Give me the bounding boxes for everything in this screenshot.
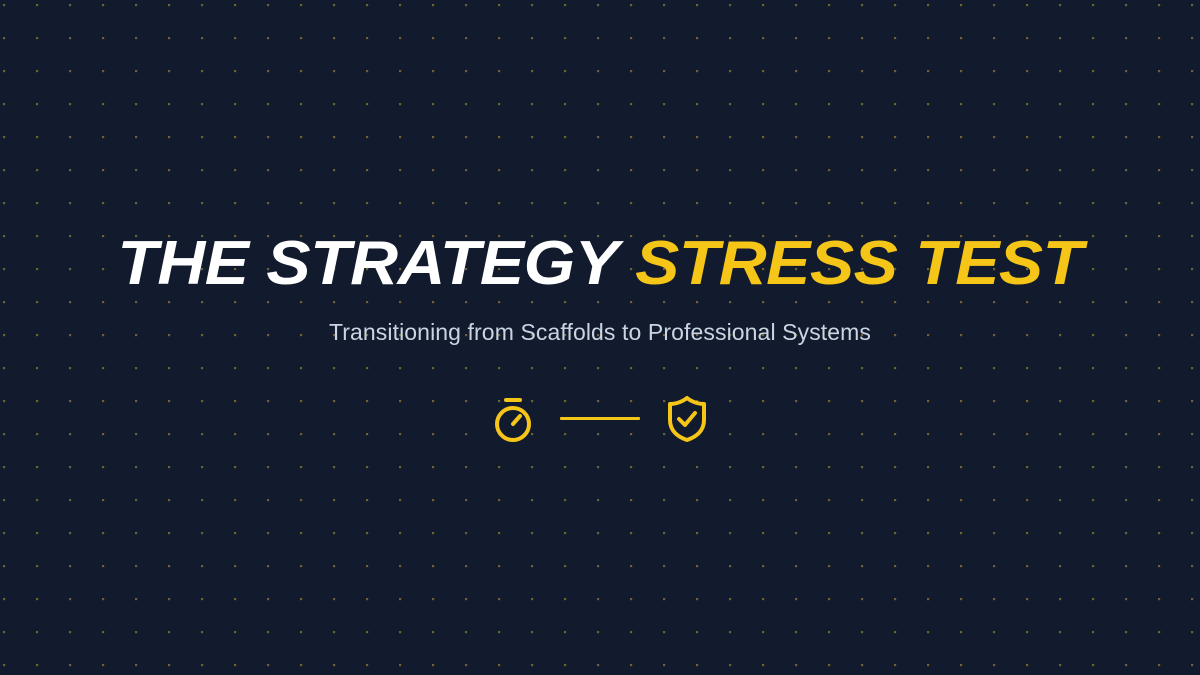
icon-row <box>490 394 710 444</box>
slide-subtitle: Transitioning from Scaffolds to Professi… <box>329 319 871 346</box>
page-title: THE STRATEGY STRESS TEST <box>117 231 1082 296</box>
horizontal-rule-icon <box>560 417 640 420</box>
stopwatch-icon <box>490 394 536 444</box>
title-slide: THE STRATEGY STRESS TEST Transitioning f… <box>0 0 1200 675</box>
title-accent-text: STRESS TEST <box>635 229 1083 298</box>
shield-check-icon <box>664 394 710 444</box>
slide-content: THE STRATEGY STRESS TEST Transitioning f… <box>0 0 1200 675</box>
title-primary-text: THE STRATEGY <box>117 229 635 298</box>
